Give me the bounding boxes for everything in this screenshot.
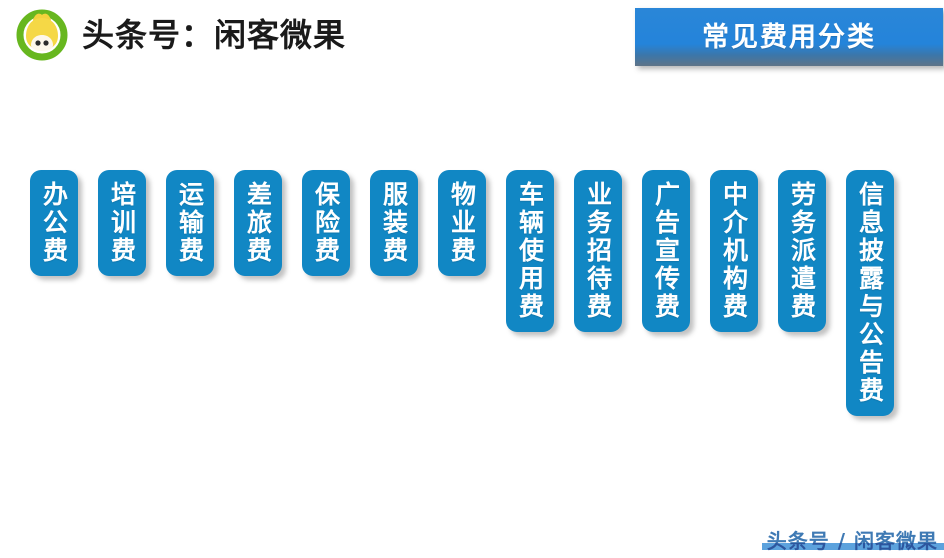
- category-label: 保险费: [313, 181, 340, 265]
- category-label: 差旅费: [245, 181, 272, 265]
- watermark-text: 头条号 / 闲客微果: [767, 525, 938, 554]
- category-box[interactable]: 物业费: [438, 170, 486, 276]
- category-box[interactable]: 车辆使用费: [506, 170, 554, 332]
- category-label: 物业费: [449, 181, 476, 265]
- category-label: 办公费: [41, 181, 68, 265]
- category-box[interactable]: 服装费: [370, 170, 418, 276]
- category-label: 信息披露与公告费: [857, 181, 884, 405]
- banner-title: 常见费用分类: [702, 15, 876, 54]
- category-box[interactable]: 办公费: [30, 170, 78, 276]
- category-box[interactable]: 培训费: [98, 170, 146, 276]
- category-box[interactable]: 保险费: [302, 170, 350, 276]
- category-label: 劳务派遣费: [789, 181, 816, 321]
- category-box-row: 办公费培训费运输费差旅费保险费服装费物业费车辆使用费业务招待费广告宣传费中介机构…: [30, 170, 894, 416]
- slide-canvas: 头条号：闲客微果 常见费用分类 办公费培训费运输费差旅费保险费服装费物业费车辆使…: [0, 0, 944, 558]
- brand-title: 头条号：闲客微果: [82, 17, 346, 51]
- watermark: 头条号 / 闲客微果: [767, 525, 938, 554]
- category-label: 业务招待费: [585, 181, 612, 321]
- category-box[interactable]: 中介机构费: [710, 170, 758, 332]
- banner-common-expense-categories: 常见费用分类: [635, 8, 943, 66]
- brand-header: 头条号：闲客微果: [14, 6, 346, 62]
- category-box[interactable]: 业务招待费: [574, 170, 622, 332]
- category-label: 运输费: [177, 181, 204, 265]
- category-box[interactable]: 运输费: [166, 170, 214, 276]
- category-label: 中介机构费: [721, 181, 748, 321]
- category-box[interactable]: 劳务派遣费: [778, 170, 826, 332]
- category-box[interactable]: 差旅费: [234, 170, 282, 276]
- category-label: 车辆使用费: [517, 181, 544, 321]
- category-label: 广告宣传费: [653, 181, 680, 321]
- toutiao-mascot-icon: [14, 6, 70, 62]
- category-label: 服装费: [381, 181, 408, 265]
- category-box[interactable]: 信息披露与公告费: [846, 170, 894, 416]
- category-box[interactable]: 广告宣传费: [642, 170, 690, 332]
- category-label: 培训费: [109, 181, 136, 265]
